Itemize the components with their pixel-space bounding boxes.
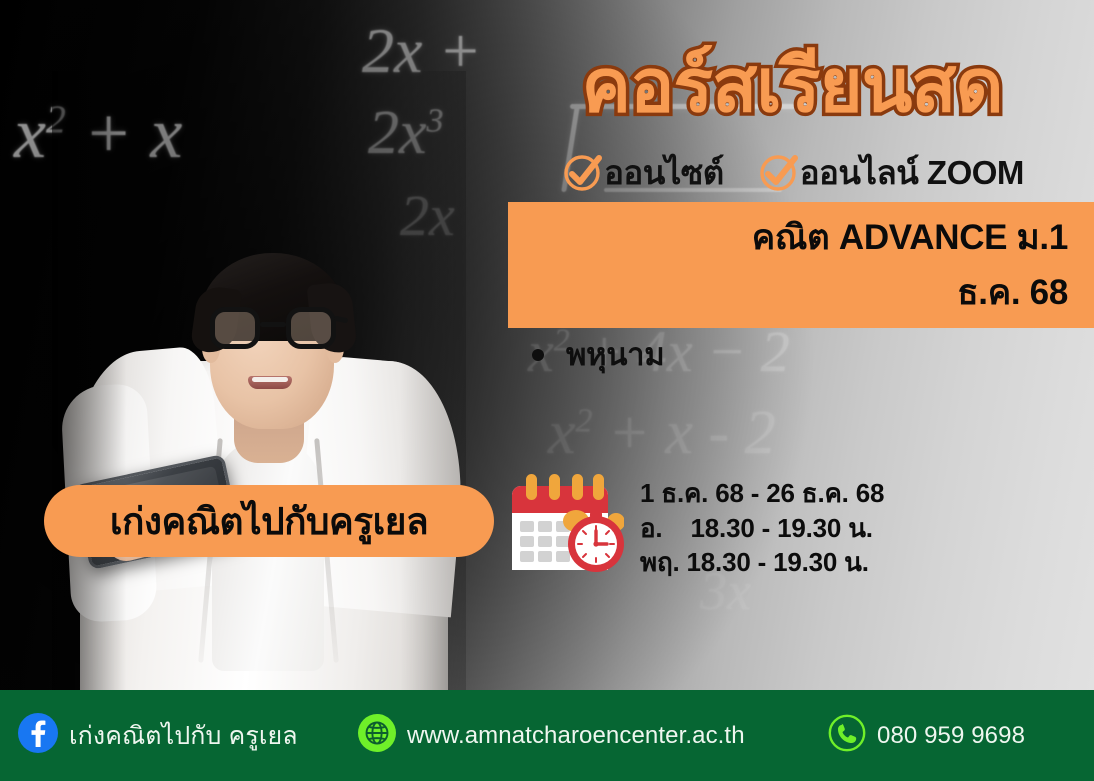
course-month: ธ.ค. 68: [508, 266, 1068, 321]
footer-phone-label: 080 959 9698: [877, 722, 1025, 750]
schedule-session-thursday: พฤ. 18.30 - 19.30 น.: [640, 545, 884, 580]
footer-facebook-label: เก่งคณิตไปกับ ครูเยล: [69, 716, 298, 756]
schedule-block: 1 ธ.ค. 68 - 26 ธ.ค. 68 อ. 18.30 - 19.30 …: [506, 470, 884, 580]
schedule-text-lines: 1 ธ.ค. 68 - 26 ธ.ค. 68 อ. 18.30 - 19.30 …: [640, 470, 884, 580]
list-item: พหุนาม: [524, 336, 944, 373]
facebook-icon[interactable]: [18, 713, 58, 758]
mode-onsite: ออนไซต์: [562, 146, 724, 199]
schedule-date-range: 1 ธ.ค. 68 - 26 ธ.ค. 68: [640, 476, 884, 511]
phone-icon[interactable]: [828, 714, 866, 757]
course-promo-poster: x2 + x 2x + 2x3 2x x2 + 4x − 2 x2 + x - …: [0, 0, 1094, 781]
check-circle-icon: [758, 153, 798, 193]
check-circle-icon: [562, 153, 602, 193]
footer-phone[interactable]: 080 959 9698: [828, 714, 1025, 757]
mode-online: ออนไลน์ ZOOM: [758, 146, 1024, 199]
footer-facebook[interactable]: เก่งคณิตไปกับ ครูเยล: [18, 713, 358, 758]
topic-list: พหุนาม: [524, 336, 944, 373]
brand-slogan-badge: เก่งคณิตไปกับครูเยล: [44, 485, 494, 557]
mode-onsite-label: ออนไซต์: [604, 146, 724, 199]
calendar-clock-icon: [506, 470, 624, 576]
page-title: คอร์สเรียนสด: [498, 48, 1086, 123]
course-title-box: คณิต ADVANCE ม.1 ธ.ค. 68: [508, 202, 1094, 328]
globe-icon[interactable]: [358, 714, 396, 757]
mode-online-label: ออนไลน์ ZOOM: [800, 146, 1024, 199]
footer-website-label: www.amnatcharoencenter.ac.th: [407, 722, 745, 750]
contact-footer: เก่งคณิตไปกับ ครูเยล www.amnatcharoencen…: [0, 690, 1094, 781]
course-name: คณิต ADVANCE ม.1: [508, 211, 1068, 266]
delivery-mode-row: ออนไซต์ ออนไลน์ ZOOM: [500, 146, 1086, 199]
brand-slogan-label: เก่งคณิตไปกับครูเยล: [110, 492, 428, 551]
schedule-session-tuesday: อ. 18.30 - 19.30 น.: [640, 511, 884, 546]
footer-website[interactable]: www.amnatcharoencenter.ac.th: [358, 714, 828, 757]
